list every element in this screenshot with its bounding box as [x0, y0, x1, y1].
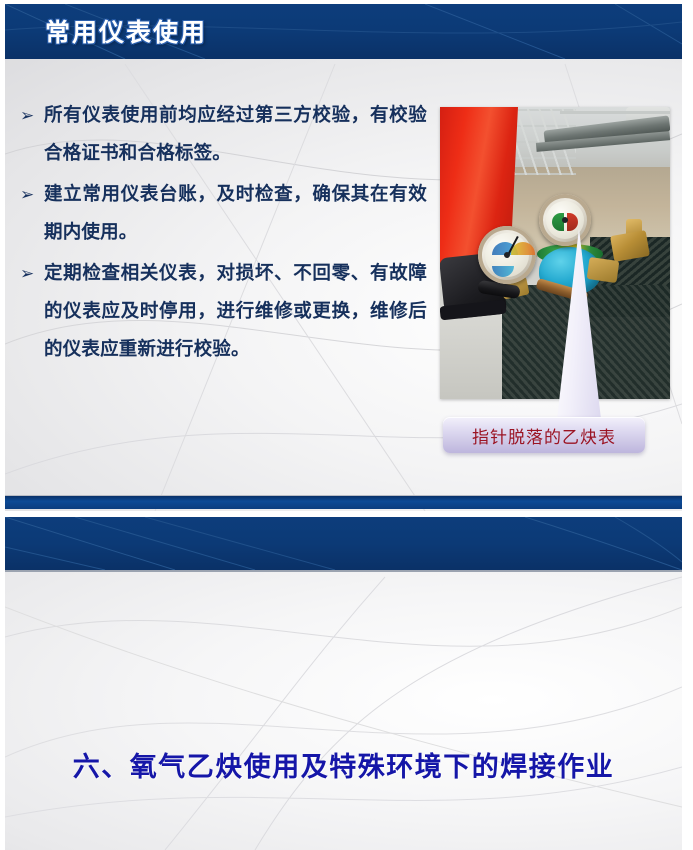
photo-rail: [560, 111, 670, 114]
header-decoration-lines: [5, 517, 682, 570]
gauge-face: [485, 233, 529, 277]
arrow-bullet-icon: ➢: [17, 255, 44, 293]
acetylene-gauge-photo: [440, 107, 670, 399]
bullet-text: 建立常用仪表台账，及时检查，确保其在有效期内使用。: [44, 176, 427, 252]
list-item: ➢ 定期检查相关仪表，对损坏、不回零、有故障的仪表应及时停用，进行维修或更换，维…: [17, 255, 427, 369]
photo-pressure-gauge-right: [539, 194, 591, 246]
photo-brass-fitting-mid: [587, 257, 620, 283]
gauge-hub: [562, 217, 568, 223]
list-item: ➢ 建立常用仪表台账，及时检查，确保其在有效期内使用。: [17, 176, 427, 252]
slide-2-title: 六、氧气乙炔使用及特殊环境下的焊接作业: [5, 745, 682, 784]
gauge-hub: [504, 252, 510, 258]
photo-caption-text: 指针脱落的乙炔表: [472, 423, 616, 448]
slide-1-header-bar: 常用仪表使用: [5, 4, 682, 59]
gauge-scale-red: [567, 213, 578, 231]
gauge-scale-lower: [492, 266, 514, 277]
gauge-face: [546, 201, 584, 239]
slide-2: 六、氧气乙炔使用及特殊环境下的焊接作业: [5, 517, 682, 850]
bullet-text: 所有仪表使用前均应经过第三方校验，有校验合格证书和合格标签。: [44, 97, 427, 173]
slide-1-footer-bar: [5, 495, 682, 509]
photo-caption-callout: 指针脱落的乙炔表: [443, 417, 645, 453]
bullet-list: ➢ 所有仪表使用前均应经过第三方校验，有校验合格证书和合格标签。 ➢ 建立常用仪…: [17, 97, 427, 372]
list-item: ➢ 所有仪表使用前均应经过第三方校验，有校验合格证书和合格标签。: [17, 97, 427, 173]
slide-2-header-bar: [5, 517, 682, 572]
photo-pressure-gauge-left: [478, 226, 536, 284]
bullet-text: 定期检查相关仪表，对损坏、不回零、有故障的仪表应及时停用，进行维修或更换，维修后…: [44, 255, 427, 369]
arrow-bullet-icon: ➢: [17, 176, 44, 214]
slide-1-title: 常用仪表使用: [45, 13, 207, 49]
arrow-bullet-icon: ➢: [17, 97, 44, 135]
